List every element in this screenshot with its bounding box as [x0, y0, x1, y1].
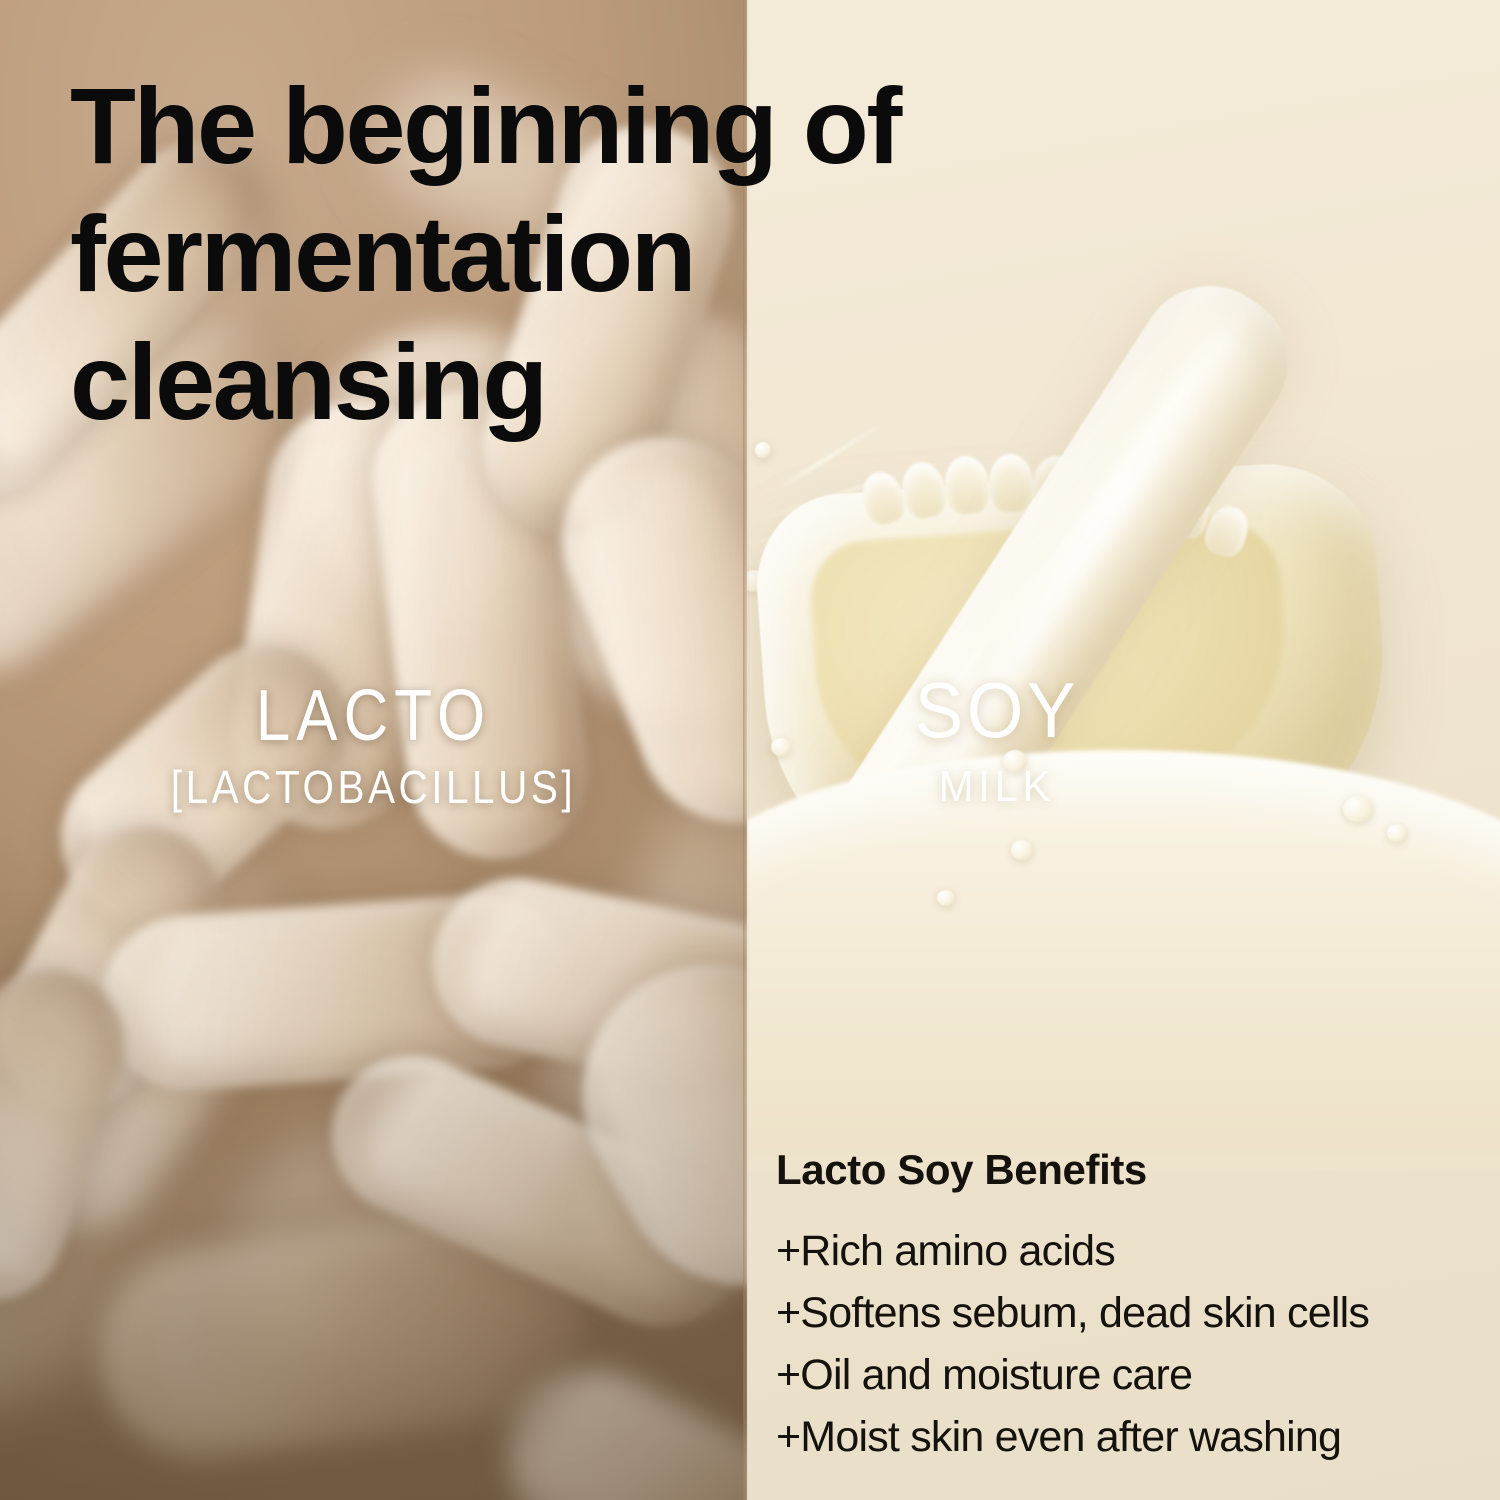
- lacto-label-main: LACTO: [52, 676, 694, 756]
- benefits-title: Lacto Soy Benefits: [776, 1146, 1486, 1194]
- soy-label-group: SOY MILK: [747, 668, 1247, 814]
- promo-poster: The beginning of fermentation cleansing …: [0, 0, 1500, 1500]
- benefit-item: +Moist skin even after washing: [776, 1406, 1486, 1468]
- soy-label-main: SOY: [765, 668, 1230, 752]
- page-title: The beginning of fermentation cleansing: [70, 62, 1130, 446]
- benefit-item: +Rich amino acids: [776, 1220, 1486, 1282]
- lacto-label-group: LACTO [LACTOBACILLUS]: [0, 676, 747, 816]
- soy-label-sub: MILK: [760, 760, 1235, 814]
- benefits-block: Lacto Soy Benefits +Rich amino acids +So…: [776, 1146, 1486, 1468]
- benefits-list: +Rich amino acids +Softens sebum, dead s…: [776, 1220, 1486, 1468]
- benefit-item: +Oil and moisture care: [776, 1344, 1486, 1406]
- benefit-item: +Softens sebum, dead skin cells: [776, 1282, 1486, 1344]
- lacto-label-sub: [LACTOBACILLUS]: [45, 758, 702, 816]
